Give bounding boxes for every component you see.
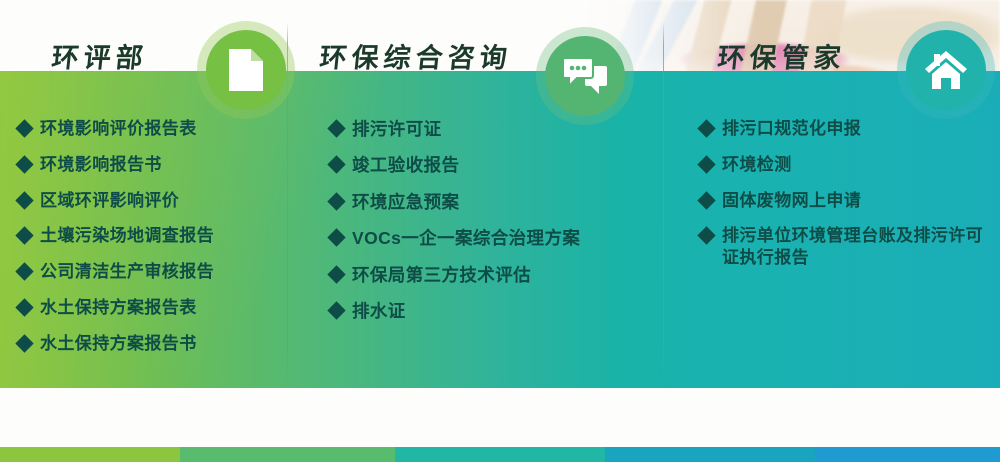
column-title-2: 环保综合咨询 [318, 36, 514, 75]
diamond-bullet-icon [697, 227, 715, 245]
list-item: 环境应急预案 [330, 191, 650, 213]
document-icon [229, 49, 263, 91]
diamond-bullet-icon [15, 119, 33, 137]
list-item: 环境检测 [700, 154, 990, 176]
home-icon [924, 50, 968, 90]
list-item: 固体废物网上申请 [700, 190, 990, 212]
list-item: 环保局第三方技术评估 [330, 264, 650, 286]
list-item: 水土保持方案报告表 [18, 297, 283, 319]
list-item: 水土保持方案报告书 [18, 333, 283, 355]
list-column-1: 环境影响评价报告表 环境影响报告书 区域环评影响评价 土壤污染场地调查报告 公司… [18, 118, 283, 368]
list-item-label: 区域环评影响评价 [40, 190, 179, 212]
bottom-strip-block-5 [815, 447, 1000, 462]
diamond-bullet-icon [327, 156, 345, 174]
column-divider-2 [663, 22, 664, 390]
bottom-color-strip [0, 447, 1000, 462]
icon-disc [206, 30, 286, 110]
list-item: 环境影响报告书 [18, 154, 283, 176]
list-item-label: 排污许可证 [352, 118, 442, 140]
diamond-bullet-icon [327, 228, 345, 246]
diamond-bullet-icon [327, 192, 345, 210]
bottom-strip-block-3 [395, 447, 605, 462]
list-item-label: 竣工验收报告 [352, 154, 459, 176]
list-item-label: VOCs一企一案综合治理方案 [352, 227, 580, 249]
list-item-label: 排污单位环境管理台账及排污许可证执行报告 [722, 225, 990, 269]
diamond-bullet-icon [697, 119, 715, 137]
list-item: 排污口规范化申报 [700, 118, 990, 140]
list-item-label: 水土保持方案报告表 [40, 297, 197, 319]
diamond-bullet-icon [327, 119, 345, 137]
list-item: 环境影响评价报告表 [18, 118, 283, 140]
list-item-label: 环境应急预案 [352, 191, 459, 213]
list-item: 竣工验收报告 [330, 154, 650, 176]
icon-disc [906, 30, 986, 110]
list-item: 排水证 [330, 300, 650, 322]
column-icon-3 [906, 30, 986, 110]
bottom-white-gap [0, 388, 1000, 447]
column-title-3: 环保管家 [716, 36, 848, 75]
list-column-2: 排污许可证 竣工验收报告 环境应急预案 VOCs一企一案综合治理方案 环保局第三… [330, 118, 650, 336]
column-icon-2 [545, 36, 625, 116]
list-item-label: 水土保持方案报告书 [40, 333, 197, 355]
list-item-label: 环境检测 [722, 154, 792, 176]
diamond-bullet-icon [697, 191, 715, 209]
bottom-strip-block-2 [180, 447, 395, 462]
diamond-bullet-icon [15, 227, 33, 245]
list-item-label: 环境影响报告书 [40, 154, 162, 176]
list-item: 土壤污染场地调查报告 [18, 225, 283, 247]
bottom-strip-block-1 [0, 447, 180, 462]
diamond-bullet-icon [15, 155, 33, 173]
list-item: 公司清洁生产审核报告 [18, 261, 283, 283]
diamond-bullet-icon [697, 155, 715, 173]
poster-root: 环评部 环保综合咨询 环保管家 [0, 0, 1000, 462]
list-item-label: 土壤污染场地调查报告 [40, 225, 214, 247]
chat-bubbles-icon [563, 58, 607, 94]
diamond-bullet-icon [15, 262, 33, 280]
column-title-1: 环评部 [50, 36, 150, 75]
list-item-label: 公司清洁生产审核报告 [40, 261, 214, 283]
list-item-label: 环境影响评价报告表 [40, 118, 197, 140]
list-item: 排污许可证 [330, 118, 650, 140]
list-item-label: 排污口规范化申报 [722, 118, 861, 140]
list-item: 区域环评影响评价 [18, 190, 283, 212]
list-item-label: 固体废物网上申请 [722, 190, 861, 212]
column-icon-1 [206, 30, 286, 110]
list-item: 排污单位环境管理台账及排污许可证执行报告 [700, 225, 990, 269]
diamond-bullet-icon [15, 334, 33, 352]
list-item-label: 排水证 [352, 300, 406, 322]
diamond-bullet-icon [15, 298, 33, 316]
list-item-label: 环保局第三方技术评估 [352, 264, 531, 286]
diamond-bullet-icon [327, 265, 345, 283]
diamond-bullet-icon [15, 191, 33, 209]
icon-disc [545, 36, 625, 116]
diamond-bullet-icon [327, 301, 345, 319]
list-column-3: 排污口规范化申报 环境检测 固体废物网上申请 排污单位环境管理台账及排污许可证执… [700, 118, 990, 283]
bottom-strip-block-4 [605, 447, 815, 462]
list-item: VOCs一企一案综合治理方案 [330, 227, 650, 249]
